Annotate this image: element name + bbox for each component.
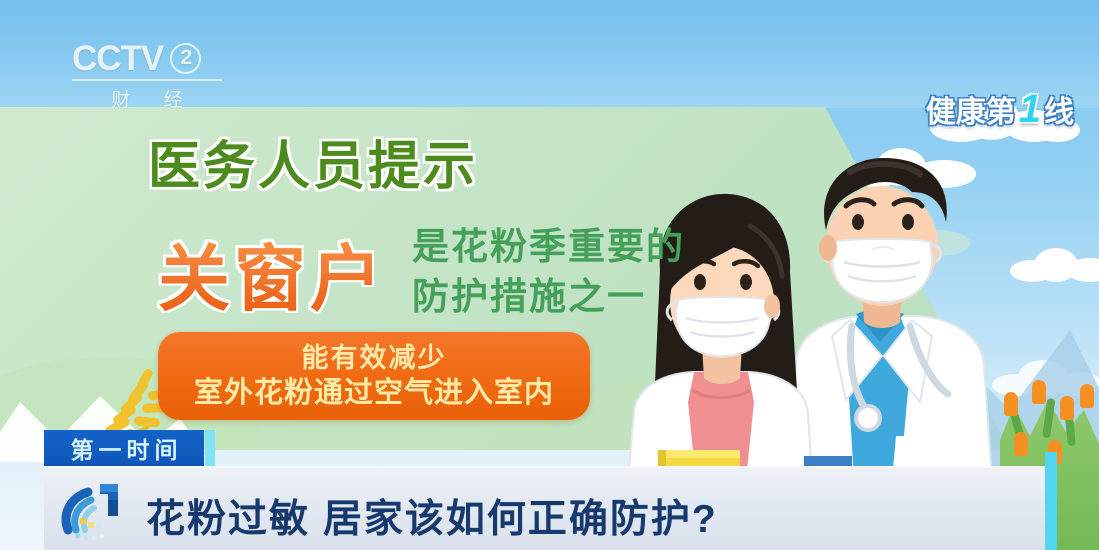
segment-tab-accent [205,430,215,466]
health-first-line-logo-icon: 健康第 1 线 [920,88,1080,130]
page-title: 医务人员提示 [148,124,478,199]
lower-third-accent [1045,452,1057,550]
program-logo-part1: 健康第 [926,87,1016,131]
program-logo-part2: 线 [1044,87,1074,131]
news-headline: 花粉过敏 居家该如何正确防护? [146,488,718,544]
cctv-subtitle: 财 经 [72,85,222,112]
cctv-wordmark: CCTV [72,39,163,78]
cctv-channel-number: 2 [170,43,201,74]
broadcast-frame: CCTV2 财 经 健康第 1 线 [0,0,1099,550]
subtitle-line-1: 是花粉季重要的 [412,222,685,272]
keyword-highlight: 关窗户 [158,220,386,325]
cctv-divider [72,79,222,81]
news-circle-logo-icon [58,478,130,544]
banner-line-2: 室外花粉通过空气进入室内 [194,375,554,411]
cloud-right-lower [1010,248,1099,282]
program-logo-number: 1 [1016,87,1044,132]
cctv-logo-icon: CCTV2 财 经 [72,40,222,112]
subtitle-lines: 是花粉季重要的 防护措施之一 [412,222,685,322]
segment-tab[interactable]: 第一时间 [44,430,229,466]
segment-tab-background[interactable]: 第一时间 [44,430,204,466]
subtitle-line-2: 防护措施之一 [412,272,685,322]
benefit-banner: 能有效减少 室外花粉通过空气进入室内 [158,332,590,420]
banner-line-1: 能有效减少 [302,341,447,375]
segment-tab-label: 第一时间 [66,431,183,465]
